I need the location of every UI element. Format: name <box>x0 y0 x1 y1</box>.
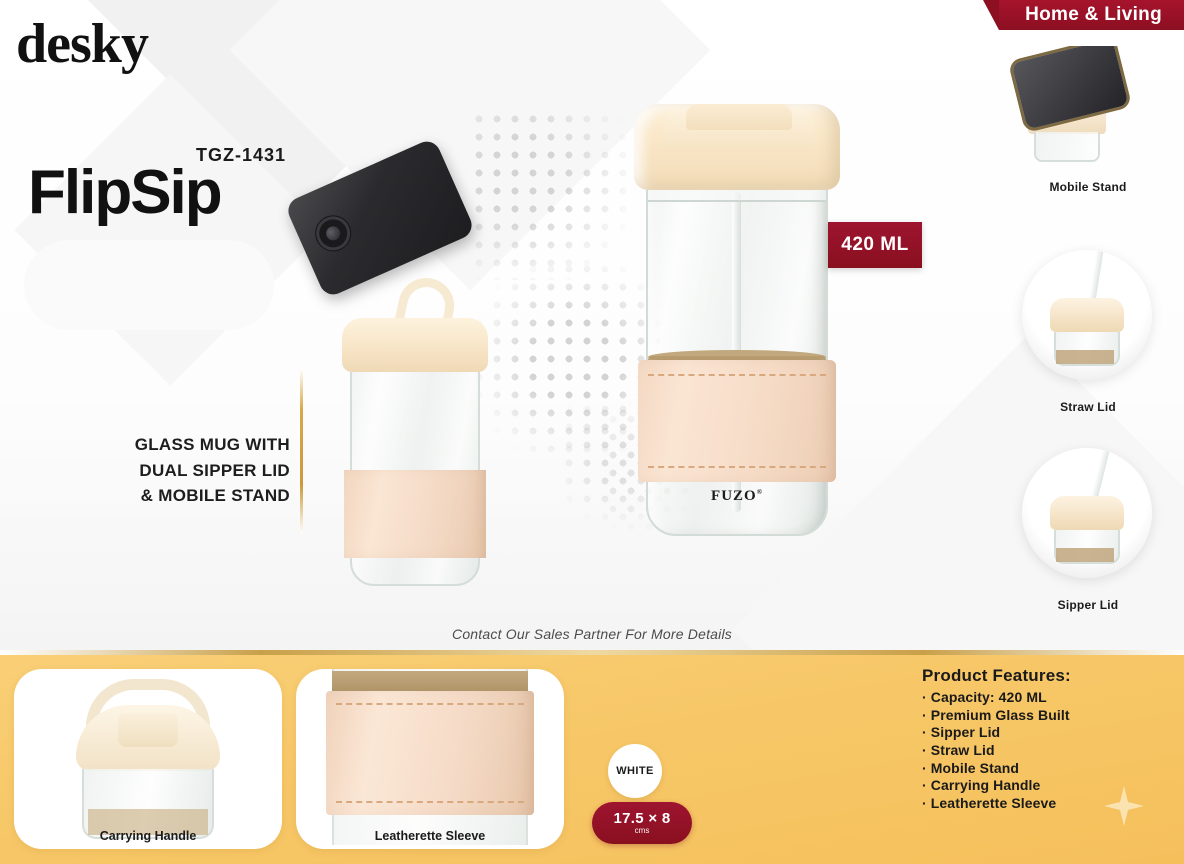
color-swatch-badge: WHITE <box>608 744 662 798</box>
thumb-glass-shape <box>1034 132 1100 162</box>
thumb-lid-shape <box>1050 298 1124 332</box>
thumb-label-straw-lid: Straw Lid <box>998 400 1178 414</box>
feature-item: Carrying Handle <box>922 777 1184 795</box>
small-bottle-sleeve <box>344 470 486 558</box>
product-features-panel: Product Features: Capacity: 420 ML Premi… <box>922 666 1184 812</box>
leatherette-sleeve-card: Leatherette Sleeve <box>296 669 564 849</box>
thumb-jar-shape <box>1050 298 1124 366</box>
card-label-carrying-handle: Carrying Handle <box>14 829 282 843</box>
carrying-handle-card: Carrying Handle <box>14 669 282 849</box>
mobile-stand-thumb <box>1000 46 1174 172</box>
card-lid-tab-shape <box>118 713 178 747</box>
thumb-jar-shape <box>1050 496 1124 564</box>
dimensions-value: 17.5 × 8 <box>613 811 670 827</box>
thumb-glass-shape <box>1054 332 1120 366</box>
straw-lid-thumb <box>1022 250 1152 380</box>
feature-item: Straw Lid <box>922 742 1184 760</box>
thumb-phone-shape <box>1011 46 1128 130</box>
thumb-liquid-shape <box>1056 548 1114 562</box>
tagline-line-1: GLASS MUG WITH <box>100 432 290 458</box>
main-product-bottle: FUZO® <box>632 88 842 548</box>
tagline-line-3: & MOBILE STAND <box>100 483 290 509</box>
dimensions-unit: cms <box>635 827 650 835</box>
bottom-feature-strip: Carrying Handle Leatherette Sleeve desky… <box>0 655 1184 864</box>
tagline-line-2: DUAL SIPPER LID <box>100 458 290 484</box>
small-bottle-with-phone <box>340 300 490 590</box>
contact-note: Contact Our Sales Partner For More Detai… <box>0 626 1184 642</box>
card-label-leatherette-sleeve: Leatherette Sleeve <box>296 829 564 843</box>
bottle-brand-text: FUZO <box>711 488 757 504</box>
thumb-glass-shape <box>1054 530 1120 564</box>
sleeve-stitch-bottom <box>336 801 524 803</box>
catalog-page: desky TGZ-1431 FlipSip GLASS MUG WITH DU… <box>0 0 1184 864</box>
bg-soft-shape <box>24 240 274 330</box>
thumb-liquid-shape <box>1056 350 1114 364</box>
card-sleeve-shape <box>326 691 534 815</box>
feature-item: Premium Glass Built <box>922 707 1184 725</box>
card-liquid-shape <box>332 671 528 693</box>
sipper-lid-thumb <box>1022 448 1152 578</box>
feature-item: Sipper Lid <box>922 724 1184 742</box>
bottle-brand-mark: FUZO® <box>632 488 842 505</box>
category-badge: Home & Living <box>999 0 1184 30</box>
product-tagline: GLASS MUG WITH DUAL SIPPER LID & MOBILE … <box>100 432 290 509</box>
feature-item: Leatherette Sleeve <box>922 795 1184 813</box>
features-list: Capacity: 420 ML Premium Glass Built Sip… <box>922 689 1184 812</box>
feature-item: Capacity: 420 ML <box>922 689 1184 707</box>
small-bottle-lid <box>342 318 488 372</box>
dimensions-badge: 17.5 × 8 cms <box>592 802 692 844</box>
capacity-badge: 420 ML <box>828 222 922 268</box>
bottle-lid <box>634 104 840 190</box>
sleeve-stitch-top <box>336 703 524 705</box>
brand-logo: desky <box>16 16 148 72</box>
gold-divider-rule <box>300 368 303 534</box>
bottle-lid-tab <box>686 104 792 130</box>
feature-item: Mobile Stand <box>922 760 1184 778</box>
hero-section: desky TGZ-1431 FlipSip GLASS MUG WITH DU… <box>0 0 1184 652</box>
thumb-lid-shape <box>1050 496 1124 530</box>
thumb-label-sipper-lid: Sipper Lid <box>998 598 1178 612</box>
bottle-leatherette-sleeve <box>638 360 836 482</box>
product-name: FlipSip <box>28 162 221 224</box>
thumb-label-mobile-stand: Mobile Stand <box>998 180 1178 194</box>
features-title: Product Features: <box>922 666 1184 686</box>
